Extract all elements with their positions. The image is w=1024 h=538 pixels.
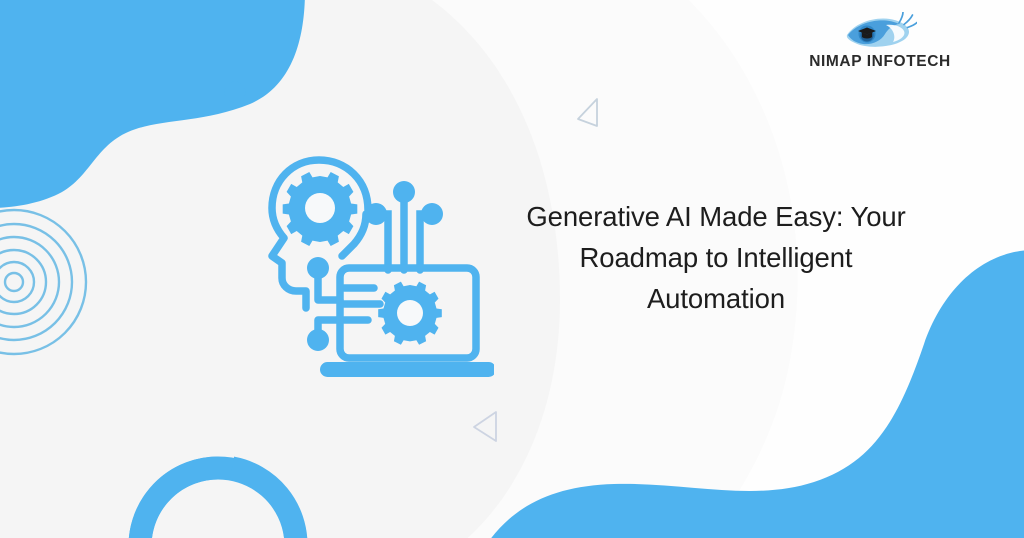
blue-dot-top	[225, 82, 246, 103]
left-circuit-dots	[307, 257, 329, 351]
ai-automation-illustration	[262, 152, 494, 380]
circuit-nodes	[380, 194, 428, 270]
brand-logo[interactable]: NIMAP INFOTECH	[800, 12, 960, 80]
page-title-line-2: Roadmap to Intelligent	[500, 237, 932, 278]
brand-name: NIMAP INFOTECH	[800, 53, 960, 71]
banner-root: NIMAP INFOTECH	[0, 0, 1024, 538]
page-title-line-3: Automation	[500, 278, 932, 319]
page-title-line-1: Generative AI Made Easy: Your	[500, 196, 932, 237]
laptop-base	[320, 362, 494, 377]
page-title: Generative AI Made Easy: Your Roadmap to…	[500, 196, 932, 319]
eye-with-graduation-cap-icon	[843, 12, 917, 52]
left-circuit-lines	[318, 270, 380, 338]
brain-gear-icon	[283, 172, 358, 246]
laptop-gear-icon	[378, 282, 442, 345]
